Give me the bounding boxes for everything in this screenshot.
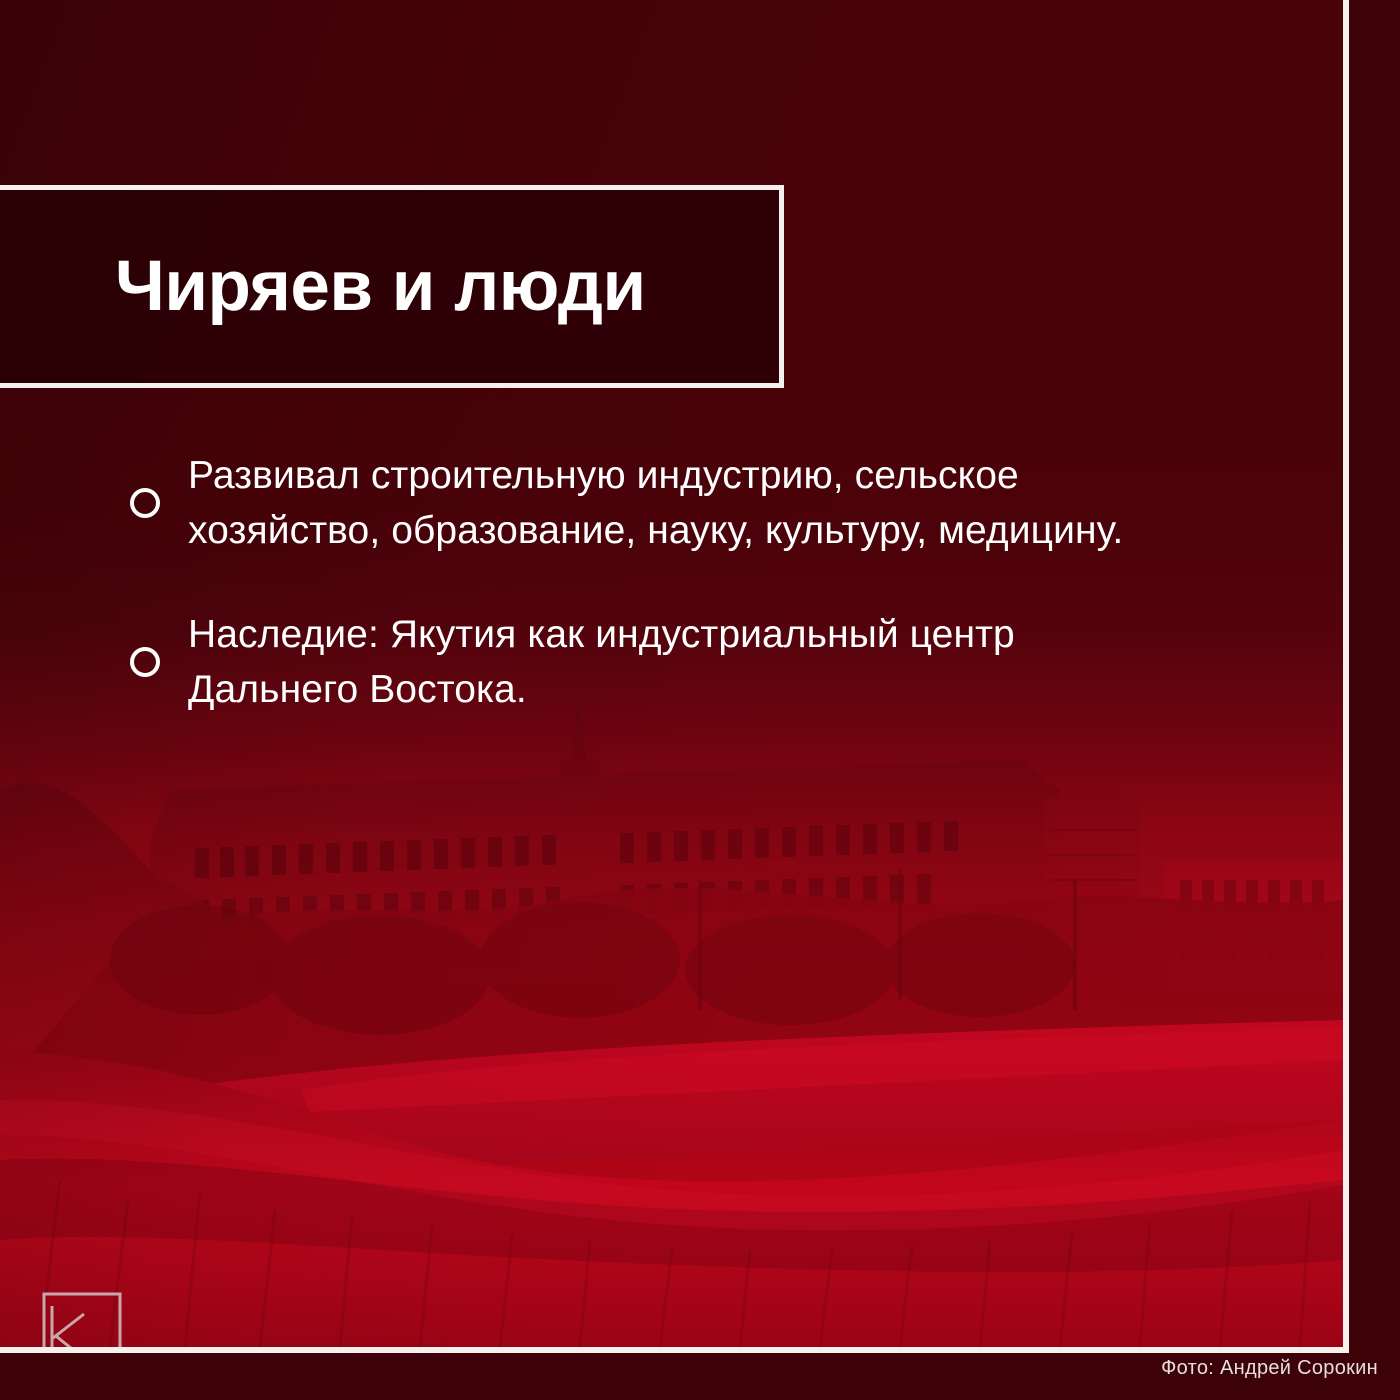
hollow-circle-icon (130, 647, 160, 677)
bullet-list: Развивал строительную индустрию, сельско… (130, 448, 1140, 766)
page-title: Чиряев и люди (0, 251, 646, 322)
list-item: Развивал строительную индустрию, сельско… (130, 448, 1140, 559)
frame-border-right (1343, 0, 1349, 1353)
presentation-slide: Чиряев и люди Развивал строительную инду… (0, 0, 1400, 1400)
list-item: Наследие: Якутия как индустриальный цент… (130, 607, 1140, 718)
photo-credit: Фото: Андрей Сорокин (1161, 1357, 1378, 1380)
photo-canvas: Чиряев и люди Развивал строительную инду… (0, 0, 1343, 1347)
frame-border-bottom (0, 1347, 1349, 1353)
list-item-label: Развивал строительную индустрию, сельско… (188, 448, 1140, 559)
list-item-label: Наследие: Якутия как индустриальный цент… (188, 607, 1140, 718)
hollow-circle-icon (130, 488, 160, 518)
brand-logo-k-icon (42, 1292, 122, 1347)
title-box: Чиряев и люди (0, 185, 784, 388)
